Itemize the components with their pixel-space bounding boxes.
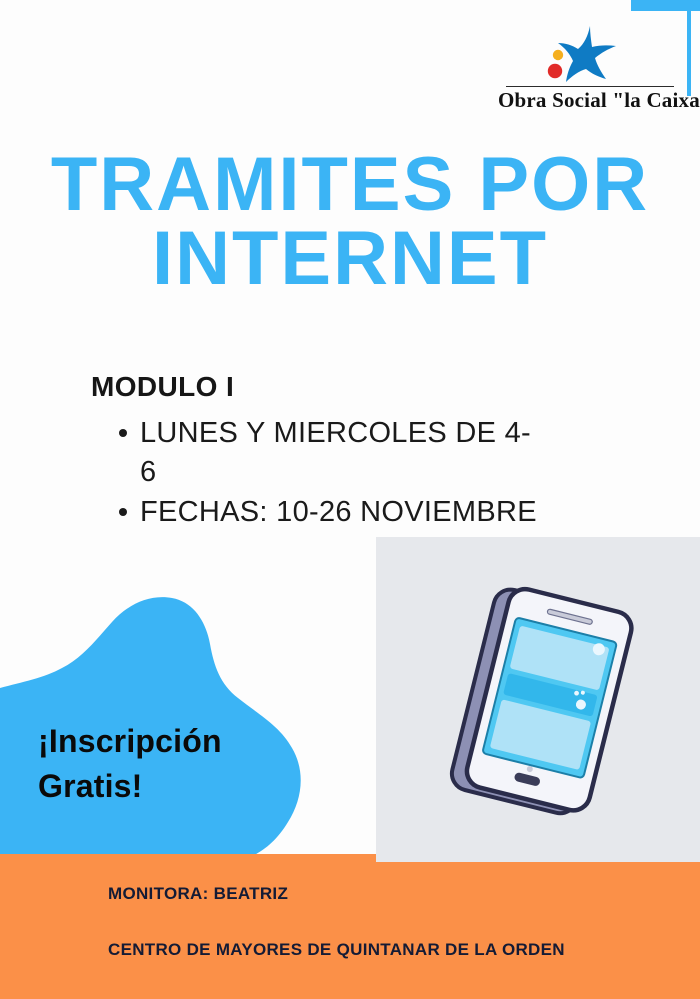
smartphone-photo-panel (376, 537, 700, 862)
promo-text: ¡Inscripción Gratis! (38, 719, 278, 810)
la-caixa-logo: Obra Social "la Caixa" (498, 24, 680, 112)
title-line-2: INTERNET (30, 222, 670, 296)
footer-band-left (0, 854, 376, 999)
title-line-1: TRAMITES POR (30, 148, 670, 222)
footer-monitor-text: MONITORA: BEATRIZ (108, 884, 288, 904)
module-bullet-list: LUNES Y MIERCOLES DE 4-6 FECHAS: 10-26 N… (112, 414, 540, 534)
la-caixa-star-icon (534, 24, 624, 84)
list-item: LUNES Y MIERCOLES DE 4-6 (140, 414, 540, 491)
right-edge-blue-line (687, 0, 691, 96)
footer-band-right (376, 862, 700, 999)
logo-divider (506, 86, 674, 87)
module-heading: MODULO I (91, 371, 234, 403)
promo-line-1: ¡Inscripción (38, 719, 278, 764)
poster-title: TRAMITES POR INTERNET (30, 148, 670, 295)
promo-line-2: Gratis! (38, 764, 278, 809)
poster-canvas: Obra Social "la Caixa" TRAMITES POR INTE… (0, 0, 700, 999)
logo-brand-text: Obra Social "la Caixa" (498, 88, 680, 113)
footer-venue-text: CENTRO DE MAYORES DE QUINTANAR DE LA ORD… (108, 940, 565, 960)
list-item: FECHAS: 10-26 NOVIEMBRE (140, 493, 540, 532)
